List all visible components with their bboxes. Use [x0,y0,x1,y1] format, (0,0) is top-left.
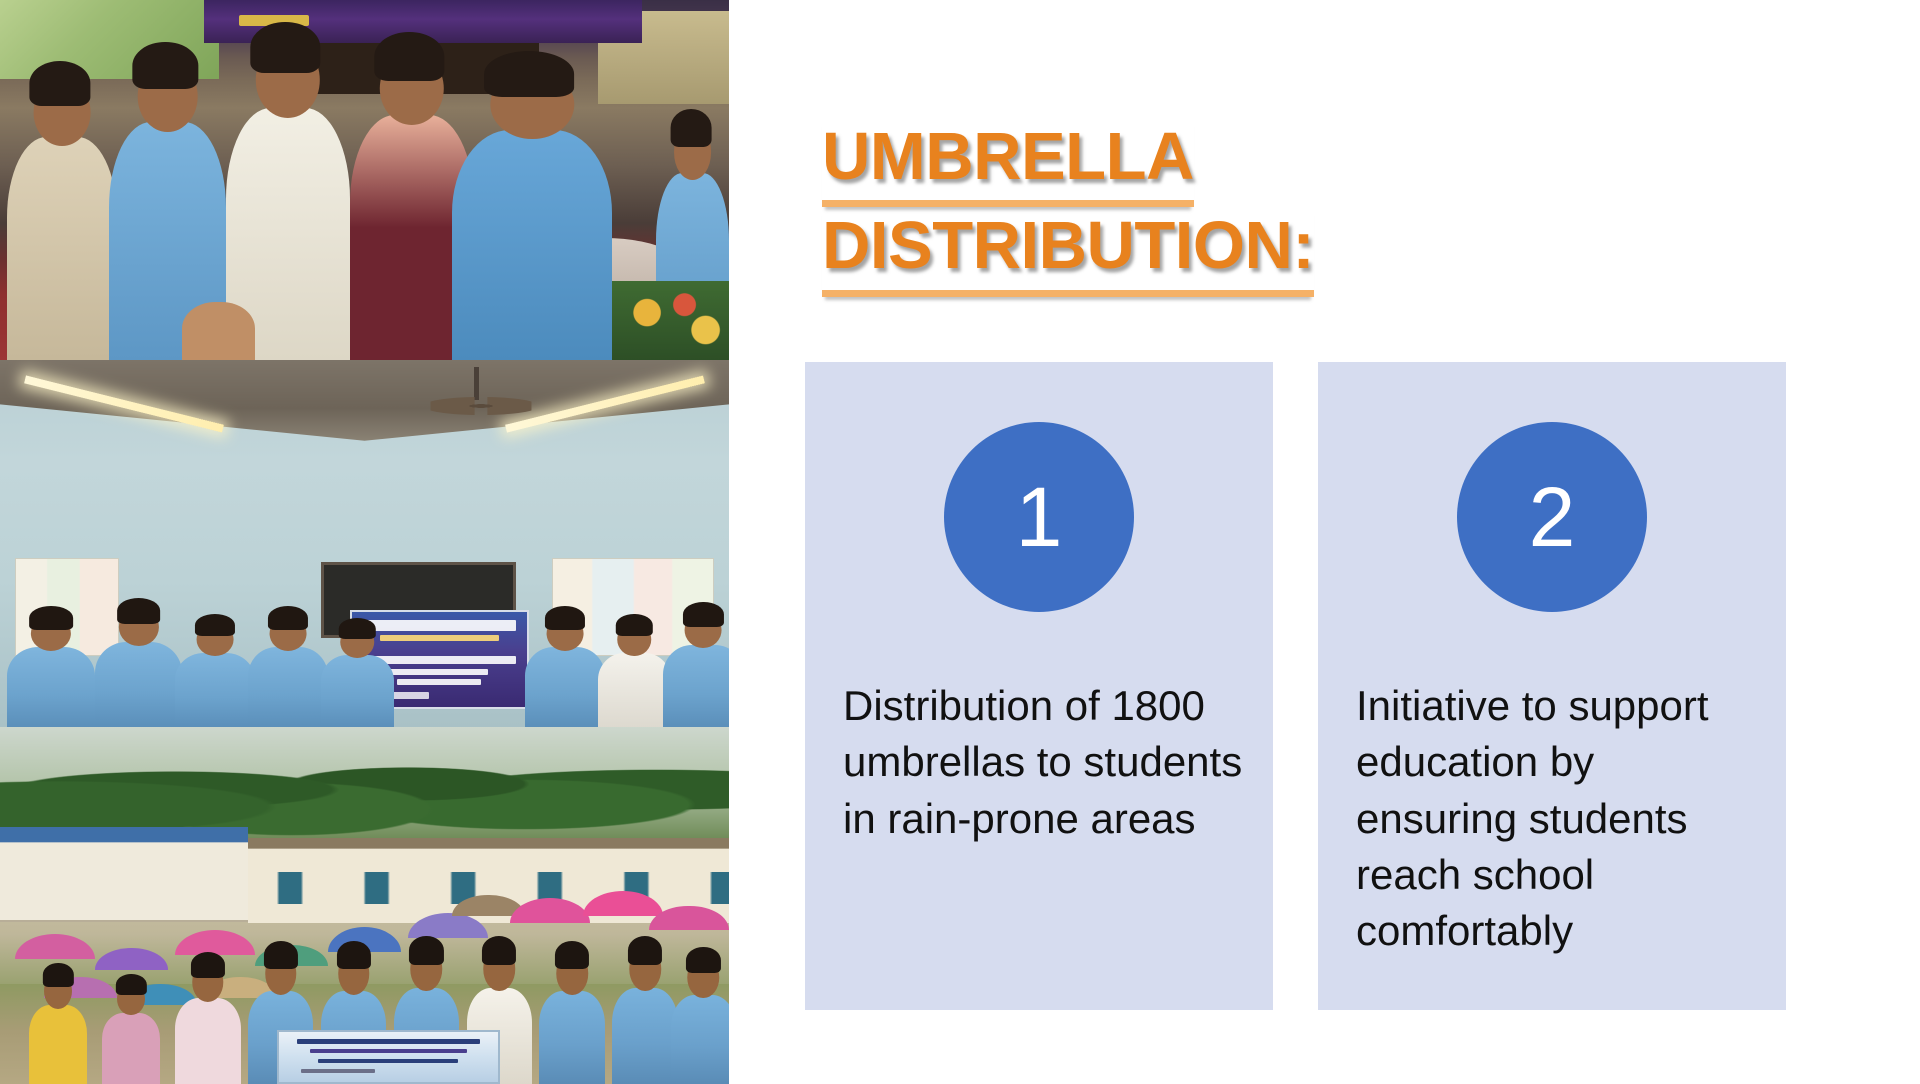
photo2-person [95,642,182,727]
photo2-fan-rod [474,367,479,400]
photo2-person [248,647,328,727]
photo3-person [175,998,241,1084]
content-panel: UMBRELLA DISTRIBUTION: 1 Distribution of… [729,0,1920,1080]
card-1: 1 Distribution of 1800 umbrellas to stud… [805,362,1273,1010]
photo3-person [671,995,729,1084]
photo2-person [321,655,394,727]
page-title: UMBRELLA DISTRIBUTION: [822,118,1522,297]
card-1-number-badge: 1 [944,422,1134,612]
photo-strip [0,0,729,1084]
photo-umbrella-distribution-outdoor [0,727,729,1084]
photo2-person [525,647,605,727]
photo2-person [175,653,255,727]
card-2: 2 Initiative to support education by ens… [1318,362,1786,1010]
page-title-line-1: UMBRELLA [822,118,1194,207]
page-title-line-2: DISTRIBUTION: [822,207,1314,296]
photo2-person [7,647,94,727]
photo2-ceiling-fan [423,397,540,415]
card-2-text: Initiative to support education by ensur… [1356,678,1756,959]
photo-classroom-group [0,360,729,727]
photo1-person [452,130,612,360]
card-2-number-badge: 2 [1457,422,1647,612]
photo3-person [539,991,605,1084]
photo2-person [598,653,671,727]
photo1-flowers [612,281,729,360]
photo2-person [663,645,729,727]
photo3-school-building-left [0,827,248,922]
photo3-sbi-banner [277,1030,500,1084]
photo1-child [182,302,255,360]
photo-ceremony-indoor [0,0,729,360]
slide-root: UMBRELLA DISTRIBUTION: 1 Distribution of… [0,0,1920,1080]
photo3-child [29,1005,87,1084]
photo3-person [612,988,678,1084]
photo1-person [7,137,116,360]
photo3-child [102,1013,160,1084]
card-1-text: Distribution of 1800 umbrellas to studen… [843,678,1243,847]
photo2-people-row [0,599,729,727]
cards-container: 1 Distribution of 1800 umbrellas to stud… [805,362,1786,1010]
photo3-trees [0,727,729,841]
